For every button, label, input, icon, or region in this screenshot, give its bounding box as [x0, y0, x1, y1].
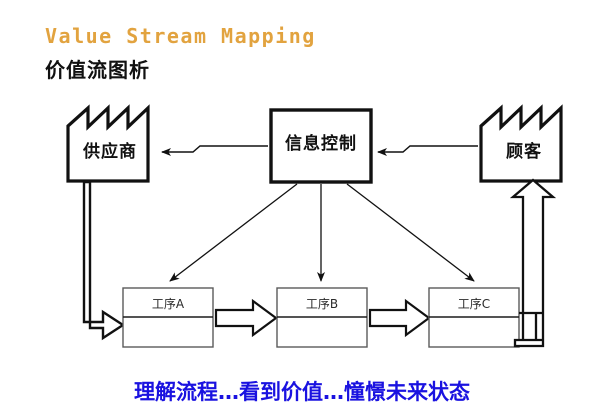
push-arrow-b-to-c [370, 301, 429, 335]
supplier-label: 供应商 [60, 144, 160, 161]
process-a-label: 工序A [123, 298, 213, 310]
vsm-diagram-canvas: Value Stream Mapping 价值流图析 供应商 信息控制 顾客 工… [0, 0, 604, 416]
push-arrow-a-to-b [216, 301, 276, 335]
schedule-arrow-to-process-a [170, 184, 297, 281]
page-title-english: Value Stream Mapping [45, 24, 316, 48]
schedule-arrow-to-process-c [347, 184, 474, 281]
page-title-chinese: 价值流图析 [45, 54, 150, 83]
information-control-label: 信息控制 [266, 136, 376, 153]
customer-label: 顾客 [479, 144, 569, 161]
process-b-label: 工序B [277, 298, 367, 310]
info-flow-from-customer [378, 146, 478, 152]
process-c-label: 工序C [429, 298, 519, 310]
footer-tagline: 理解流程…看到价值…憧憬未来状态 [0, 376, 604, 406]
material-arrow-supplier-to-process-a [84, 182, 123, 338]
info-flow-to-supplier [162, 146, 268, 152]
